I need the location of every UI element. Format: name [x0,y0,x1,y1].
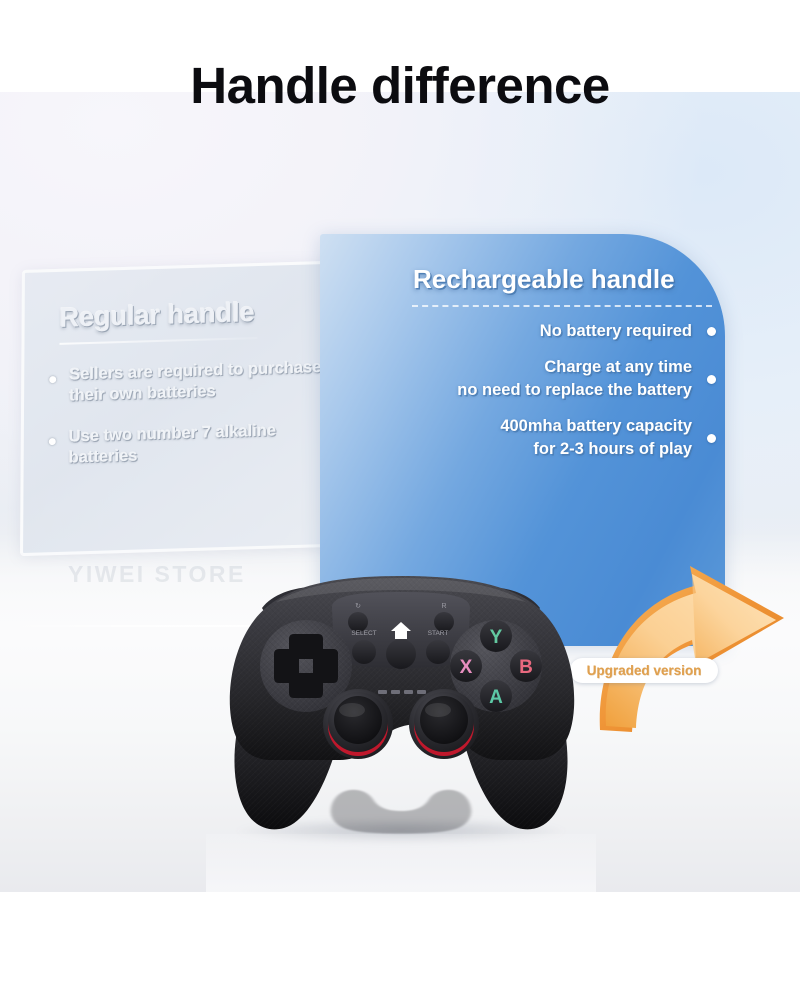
bullet-dot-icon [49,376,56,383]
select-button [352,640,376,664]
rechargeable-bullet-text: No battery required [400,320,692,343]
start-button [426,640,450,664]
list-item: Charge at any time no need to replace th… [400,356,718,402]
rechargeable-bullet-list: No battery required Charge at any time n… [400,320,718,474]
start-label: START [428,630,449,637]
bullet-dot-icon [707,327,716,336]
regular-bullet-text: Sellers are required to purchase their o… [69,357,339,407]
list-item: 400mha battery capacity for 2-3 hours of… [400,415,718,461]
face-button-y: Y [480,620,512,652]
curved-up-arrow-icon [572,560,792,740]
home-button [386,639,416,669]
svg-text:Y: Y [490,627,503,648]
regular-bullet-text: Use two number 7 alkaline batteries [69,419,339,469]
r-label: R [441,603,446,610]
bullet-dot-icon [49,438,56,445]
svg-text:B: B [519,657,533,678]
banner-background: YIWEI STORE YIWEI STORE Regular handle S… [0,92,800,892]
list-item: Use two number 7 alkaline batteries [45,419,339,470]
regular-heading-divider [59,337,257,345]
game-controller: Y X B A ↻ R SELECT START [206,572,596,837]
face-button-b: B [510,650,542,682]
regular-bullet-list: Sellers are required to purchase their o… [44,357,339,490]
product-banner-image: YIWEI STORE YIWEI STORE Regular handle S… [0,0,800,988]
regular-handle-heading: Regular handle [60,297,255,334]
bullet-dot-icon [707,434,716,443]
bullet-dot-icon [707,375,716,384]
analog-stick-left [323,689,393,759]
turbo-label: ↻ [355,603,361,610]
rechargeable-heading-divider [412,305,712,307]
badge-label: Upgraded version [587,663,702,678]
rechargeable-bullet-text: 400mha battery capacity for 2-3 hours of… [400,415,692,461]
select-label: SELECT [351,630,376,637]
face-button-x: X [450,650,482,682]
svg-text:A: A [489,687,503,708]
r-small-button [434,612,454,632]
regular-handle-content: Regular handle Sellers are required to p… [20,261,340,551]
page-title: Handle difference [0,56,800,115]
svg-text:X: X [460,657,473,678]
face-button-a: A [480,680,512,712]
rechargeable-bullet-text: Charge at any time no need to replace th… [400,356,692,402]
rechargeable-handle-heading: Rechargeable handle [413,264,675,295]
list-item: Sellers are required to purchase their o… [45,357,339,408]
turbo-button [348,612,368,632]
reflection-fade [206,834,596,892]
list-item: No battery required [400,320,718,343]
analog-stick-right [409,689,479,759]
